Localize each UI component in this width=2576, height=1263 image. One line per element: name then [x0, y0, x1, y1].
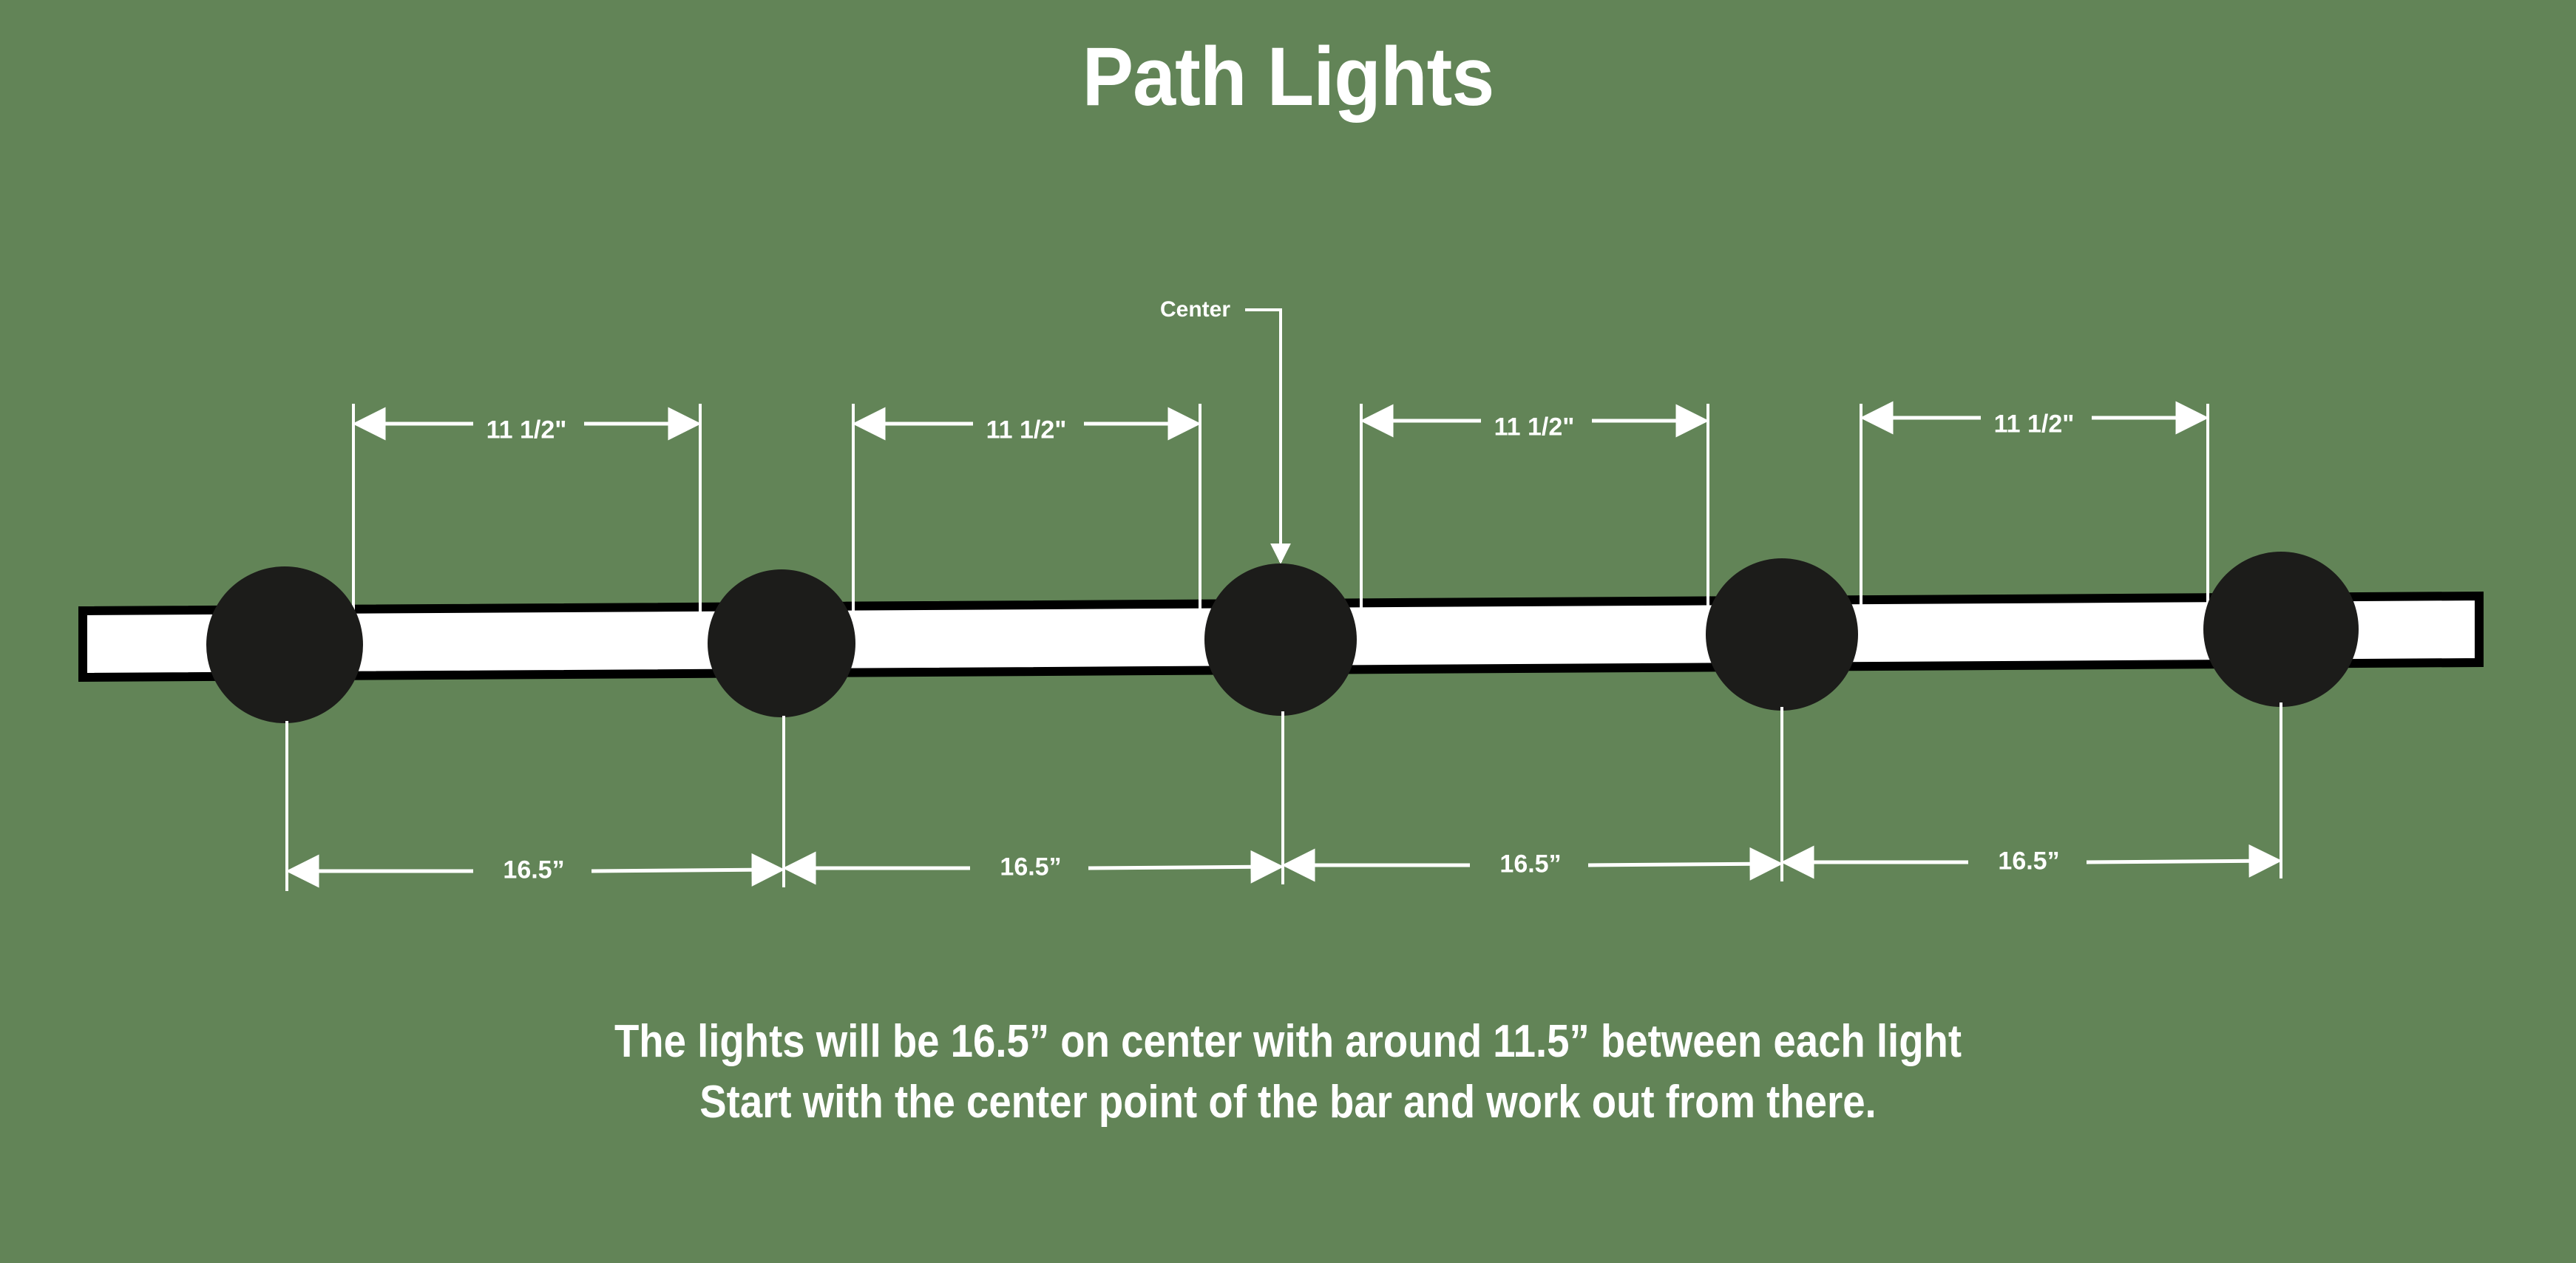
center-leader-line — [1245, 310, 1281, 562]
caption-block: The lights will be 16.5” on center with … — [155, 1012, 2421, 1133]
center-leader-path — [1245, 310, 1281, 547]
bottom-extension-lines — [287, 702, 2281, 891]
caption-line-2: Start with the center point of the bar a… — [155, 1072, 2421, 1133]
light-2[interactable] — [708, 569, 855, 717]
light-1[interactable] — [206, 566, 363, 723]
caption-line-1: The lights will be 16.5” on center with … — [155, 1012, 2421, 1072]
bottom-dim-line-3-right — [1588, 864, 1780, 865]
light-5[interactable] — [2203, 552, 2359, 707]
light-4[interactable] — [1706, 558, 1858, 711]
bottom-dim-line-4-right — [2087, 861, 2279, 862]
bottom-dim-line-2-right — [1088, 867, 1281, 868]
bottom-dim-line-1-right — [592, 870, 782, 871]
light-3[interactable] — [1204, 563, 1357, 716]
diagram-canvas: Path Lights — [0, 0, 2576, 1263]
